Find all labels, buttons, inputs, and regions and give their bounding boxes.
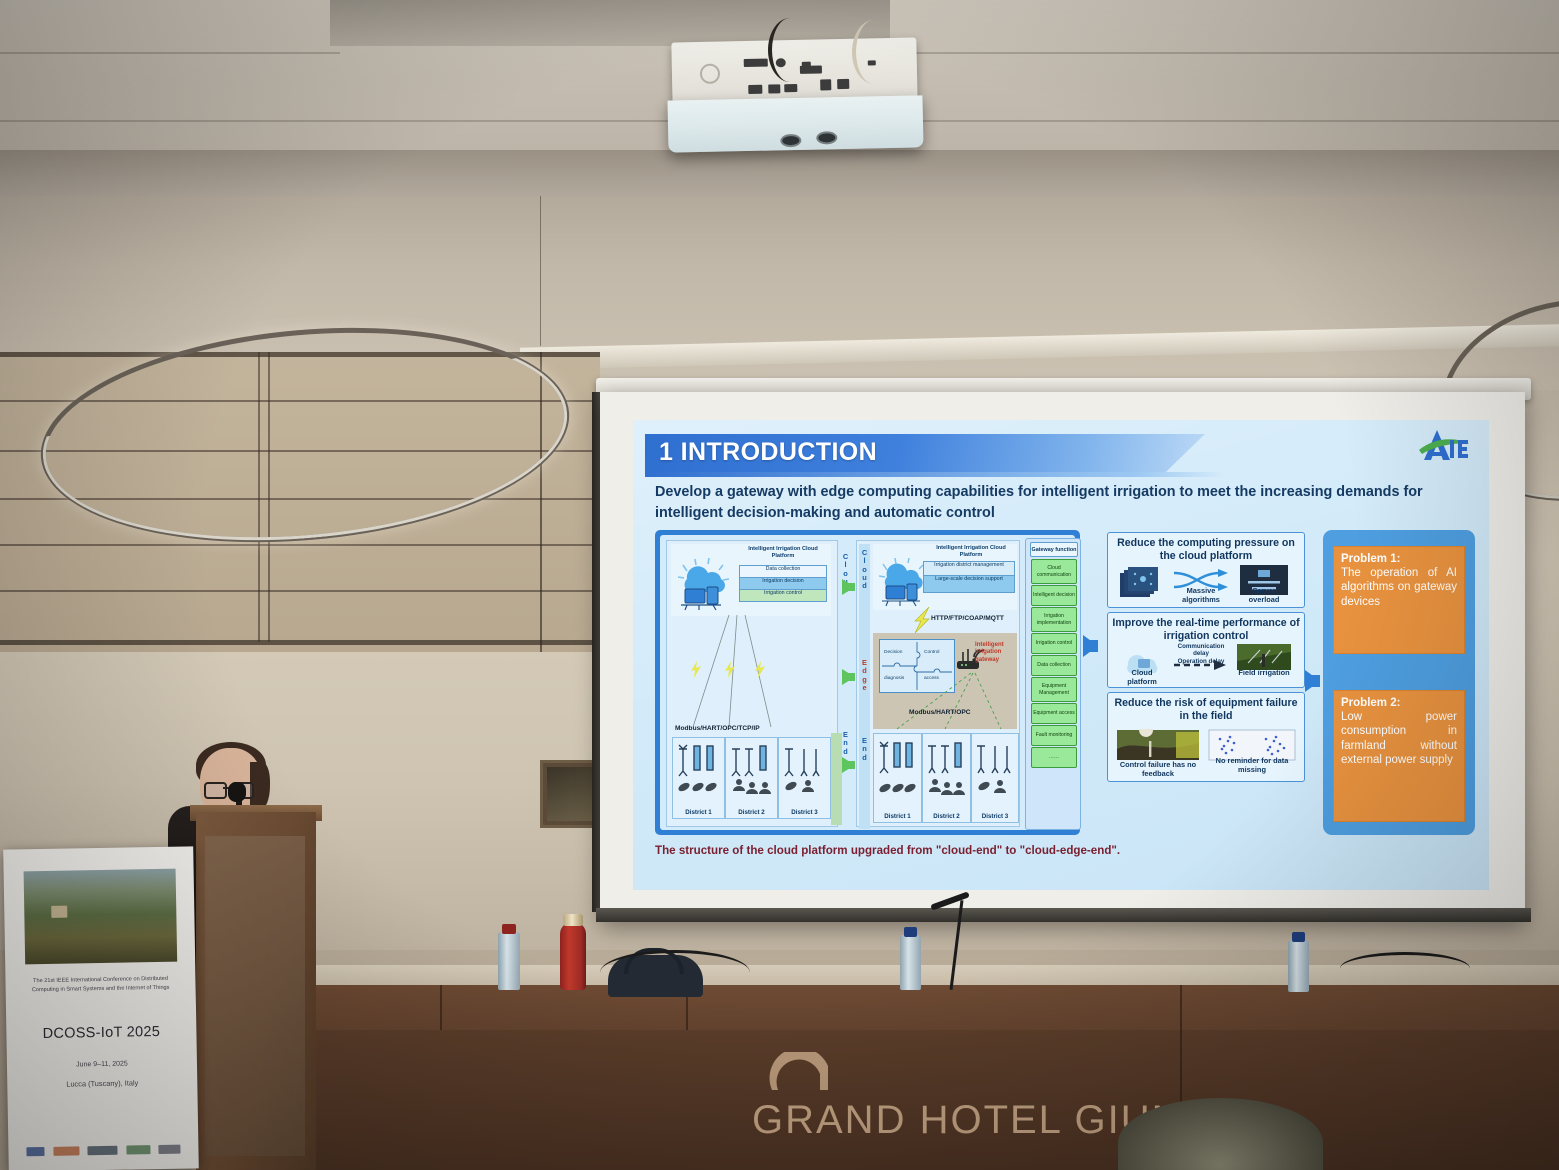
irrigation-device-icons [975,738,1015,800]
district-label: District 2 [726,809,777,816]
flow-arrow [842,757,855,773]
flow-arrow [842,579,855,595]
benefit-title: Reduce the risk of equipment failure in … [1112,697,1300,722]
benefit-caption-right: Field irrigation [1236,669,1292,678]
benefit-title: Improve the real-time performance of irr… [1112,617,1300,642]
slide-title-underline [645,472,1225,477]
projector-usb-port [768,84,780,93]
microphone-head [228,782,246,802]
poster-location: Lucca (Tuscany), Italy [7,1077,197,1089]
gateway-function-item: Irrigation implementation [1031,607,1077,632]
gateway-function-column: Gateway function Cloud communication Int… [1025,538,1081,830]
control-failure-photo-icon [1116,729,1200,761]
foreground-cable [600,950,750,995]
puzzle-label-control: Control [924,650,939,655]
district-label: District 3 [779,809,830,816]
cloud-platform-title-left: Intelligent Irrigation Cloud Platform [739,546,827,559]
district-panel: District 2 [725,737,778,819]
slide-title: 1 INTRODUCTION [659,438,877,467]
projector-lens-screw [780,134,801,147]
gateway-function-item: …… [1031,747,1077,768]
vertical-label-cloud: Cloud [859,549,870,590]
conference-poster: The 21st IEEE International Conference o… [3,846,199,1170]
district-panel: District 3 [971,733,1019,823]
benefit-box-2: Improve the real-time performance of irr… [1107,612,1305,688]
gateway-function-item: Intelligent decision [1031,585,1077,606]
benefit-box-1: Reduce the computing pressure on the clo… [1107,532,1305,608]
field-irrigation-photo-icon [1236,643,1292,671]
institute-logo-icon [1417,426,1471,466]
thermos-cap [563,914,583,926]
delay-dashed-arrow-icon [1172,659,1230,671]
water-bottle [498,932,520,990]
district-label: District 2 [923,813,970,820]
gateway-downlink-lines [879,671,1017,731]
presentation-slide: 1 INTRODUCTION Develop a gateway with ed… [633,420,1489,890]
problem-label: Problem 2: [1341,697,1457,709]
downlink-protocol-label: Modbus/HART/OPC [909,709,971,716]
irrigation-device-icons [782,741,827,799]
puzzle-label-decision: Decision [884,650,902,655]
district-panel: District 3 [778,737,831,819]
projector-body [667,95,923,152]
benefits-to-problems-arrow [1305,670,1320,692]
ceiling-panel-line [888,52,1559,54]
district-panel: District 1 [672,737,725,819]
projector-control-dial [700,64,720,84]
projector-vga-port [744,59,768,68]
slide-caption: The structure of the cloud platform upgr… [655,844,1120,857]
gateway-function-item: Equipment Management [1031,677,1077,702]
benefit-caption-left: Control failure has no feedback [1112,761,1204,778]
diagram-to-benefits-arrow [1083,635,1098,657]
district-panel: District 1 [873,733,922,823]
slide-lead-text: Develop a gateway with edge computing ca… [655,482,1455,524]
projector-lan-port [820,79,831,90]
problem-box-1: Problem 1: The operation of AI algorithm… [1333,546,1465,654]
hotel-arc-logo-icon [768,1052,836,1092]
water-bottle [1288,940,1309,992]
benefit-caption-right: Server overload [1238,587,1290,604]
cloud-platform-title-right: Intelligent Irrigation Cloud Platform [927,545,1015,558]
district-label: District 1 [673,809,724,816]
water-bottle [900,935,921,990]
gateway-function-item: Cloud communication [1031,559,1077,584]
red-thermos [560,922,586,990]
glasses-left-lens [204,782,227,799]
cloud-edge-end-panel: Cloud Edge End Intelligent Irrigation Cl… [856,540,1020,827]
poster-conference-long-title: The 21st IEEE International Conference o… [21,975,179,995]
ceiling-panel-line [0,52,340,54]
irrigation-device-icons [877,738,918,800]
gateway-function-item: Data collection [1031,655,1077,676]
cloud-end-panel: Intelligent Irrigation Cloud Platform [666,540,838,827]
benefit-caption-right: No reminder for data missing [1212,757,1292,774]
poster-acronym: DCOSS-IoT 2025 [6,1023,196,1042]
district-label: District 3 [972,813,1018,820]
irrigation-device-icons [676,741,721,799]
problem-text: Low power consumption in farmland withou… [1341,710,1457,768]
problem-box-2: Problem 2: Low power consumption in farm… [1333,690,1465,822]
bottle-cap [904,927,917,937]
irrigation-device-icons [729,741,774,799]
irrigation-device-icons [926,738,967,800]
conference-room-photo: 1 INTRODUCTION Develop a gateway with ed… [0,0,1559,1170]
gateway-function-header: Gateway function [1030,542,1078,557]
poster-sponsor-logos [26,1142,180,1159]
gateway-function-item: Equipment access [1031,703,1077,724]
projector-cable-dark [768,18,812,82]
projector-serial-port [837,79,849,89]
right-stack-item-1: Large-scale decision support [923,575,1015,593]
left-link-lines [667,613,837,733]
massive-algorithms-icon [1118,565,1170,601]
cloud-computer-icon-left [673,553,735,611]
left-stack-item-2: Irrigation control [739,589,827,602]
benefit-title: Reduce the computing pressure on the clo… [1112,537,1300,562]
desk-seam [440,985,442,1035]
architecture-diagram: Intelligent Irrigation Cloud Platform [655,530,1080,835]
benefit-caption-left: Cloud platform [1116,669,1168,686]
vertical-label-end-left: End [840,731,851,756]
gateway-function-item: Fault monitoring [1031,725,1077,746]
vertical-label-edge: Edge [859,659,870,692]
problem-text: The operation of AI algorithms on gatewa… [1341,566,1457,609]
projector-hdmi-port-2 [784,84,797,92]
district-label: District 1 [874,813,921,820]
desk-seam [1180,985,1182,1035]
projector-cable-light [852,20,896,84]
projector-hdmi-port [748,85,762,94]
flow-arrow [842,669,855,685]
poster-landscape-image [24,869,178,965]
screen-bottom-bar [596,908,1531,922]
podium-front-panel [205,836,305,1156]
foreground-cable-right [1340,952,1470,985]
poster-dates: June 9–11, 2025 [7,1059,197,1069]
benefit-caption-left: Massive algorithms [1174,587,1228,604]
problem-label: Problem 1: [1341,553,1457,565]
problems-panel: Problem 1: The operation of AI algorithm… [1323,530,1475,835]
uplink-protocol-label: HTTP/FTP/COAP/MQTT [931,615,1004,622]
left-protocol-label: Modbus/HART/OPC/TCP/IP [675,725,760,732]
bottle-cap [502,924,516,934]
bottle-cap [1292,932,1305,942]
district-panel: District 2 [922,733,971,823]
benefit-box-3: Reduce the risk of equipment failure in … [1107,692,1305,782]
gateway-label: Intelligent irrigation gateway [975,641,1017,663]
vertical-label-end: End [859,737,870,762]
lamp-cord [540,196,541,346]
projector-lens [816,131,837,144]
gateway-function-item: Irrigation control [1031,633,1077,654]
